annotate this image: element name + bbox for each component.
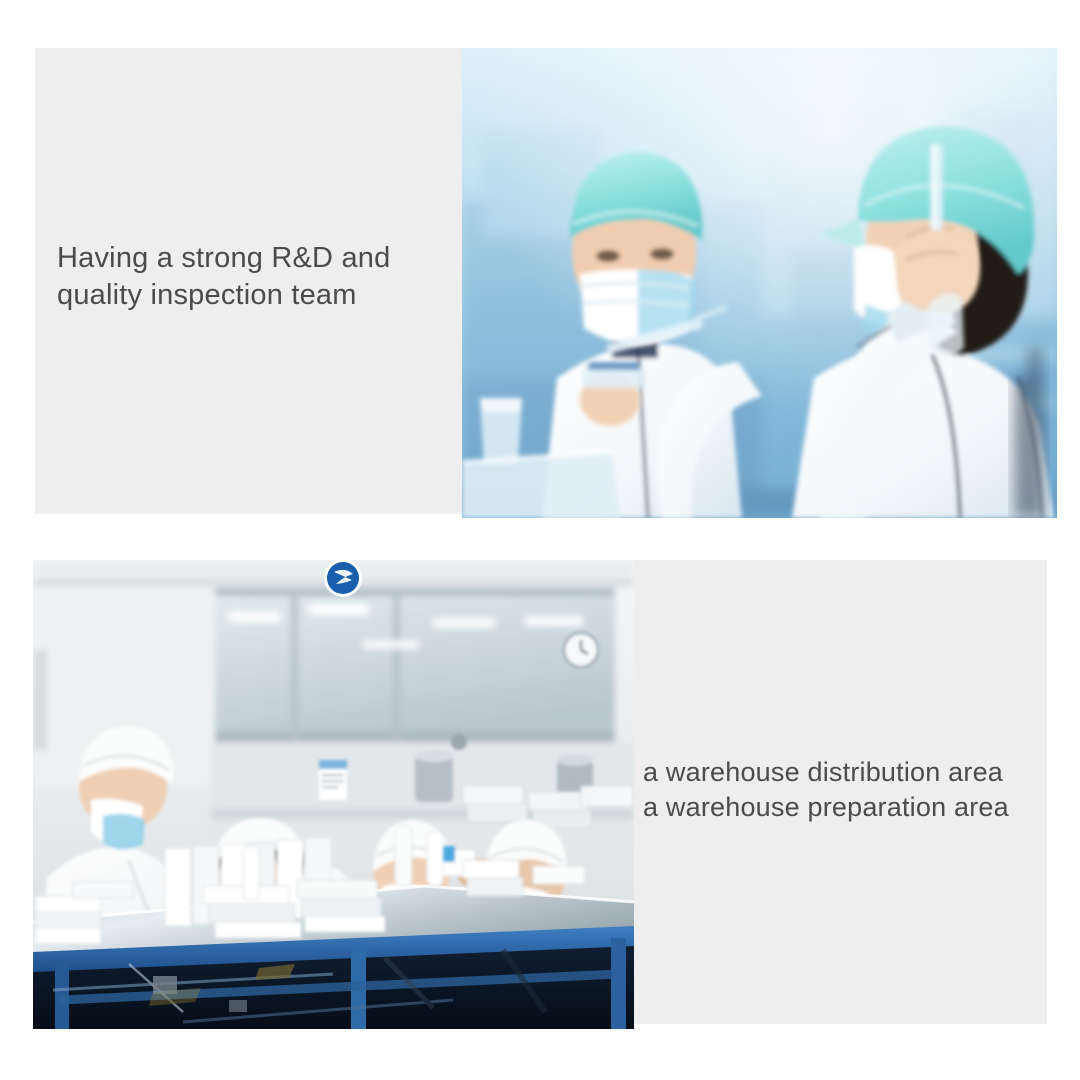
caption-warehouse-areas: a warehouse distribution area a warehous… — [643, 755, 1053, 825]
wall-clock — [564, 633, 598, 667]
warehouse-scene-illustration — [33, 560, 634, 1029]
photo-laboratory-quality-inspection — [462, 48, 1057, 518]
section-warehouse: a warehouse distribution area a warehous… — [0, 530, 1080, 1080]
photo-warehouse-packing-area — [33, 560, 634, 1029]
laboratory-scene-illustration — [462, 48, 1057, 518]
caption-rnd-quality: Having a strong R&D and quality inspecti… — [57, 240, 457, 314]
section-rnd-quality: Having a strong R&D and quality inspecti… — [0, 0, 1080, 530]
blue-circular-sign — [324, 560, 362, 597]
